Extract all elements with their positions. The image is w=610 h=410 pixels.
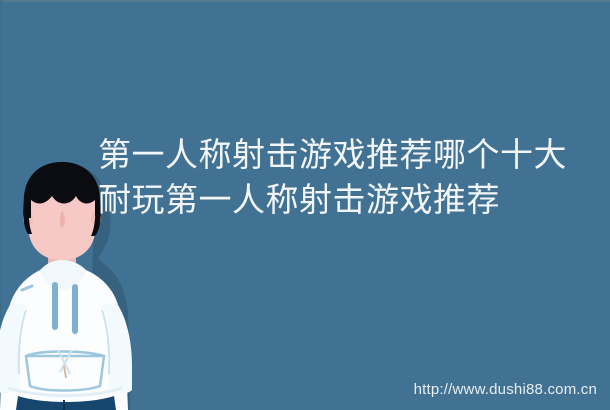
drawstring-left (52, 282, 58, 330)
drawstring-right (72, 284, 78, 334)
page-title: 第一人称射击游戏推荐哪个十大耐玩第一人称射击游戏推荐 (98, 132, 598, 222)
cover-image-canvas: 第一人称射击游戏推荐哪个十大耐玩第一人称射击游戏推荐 http://www.du… (0, 0, 610, 410)
top-edge-line (0, 0, 610, 2)
site-url-watermark: http://www.dushi88.com.cn (414, 381, 597, 398)
